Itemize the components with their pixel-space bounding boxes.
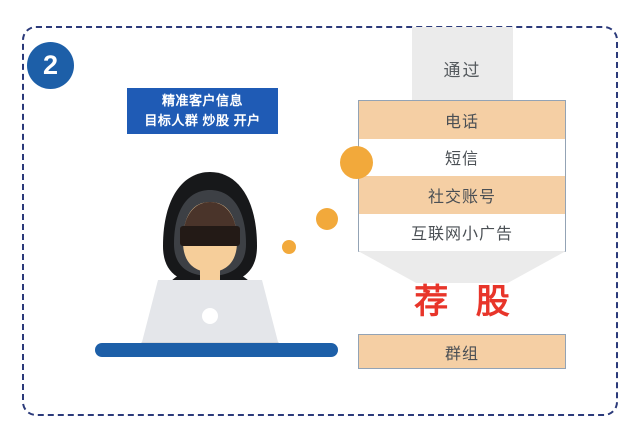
channel-row-internet-ads: 互联网小广告 xyxy=(359,214,565,252)
orange-dot-large xyxy=(340,146,373,179)
step-number-badge: 2 xyxy=(27,42,74,89)
headline-text: 荐 股 xyxy=(358,274,566,323)
channel-table: 电话 短信 社交账号 互联网小广告 xyxy=(358,100,566,252)
via-label: 通过 xyxy=(412,56,513,81)
channel-row-phone: 电话 xyxy=(359,101,565,139)
group-box: 群组 xyxy=(358,334,566,369)
caption-box: 精准客户信息 目标人群 炒股 开户 xyxy=(127,88,278,134)
infographic-canvas: 2 精准客户信息 目标人群 炒股 开户 通过 电话 短信 社交账号 互联网小广告… xyxy=(0,0,640,434)
orange-dot-medium xyxy=(316,208,338,230)
hooded-hacker-icon xyxy=(110,150,310,350)
channel-row-sms: 短信 xyxy=(359,139,565,177)
caption-line-2: 目标人群 炒股 开户 xyxy=(144,111,260,131)
channel-row-social: 社交账号 xyxy=(359,176,565,214)
caption-line-1: 精准客户信息 xyxy=(162,91,243,111)
desk-bar xyxy=(95,343,338,357)
